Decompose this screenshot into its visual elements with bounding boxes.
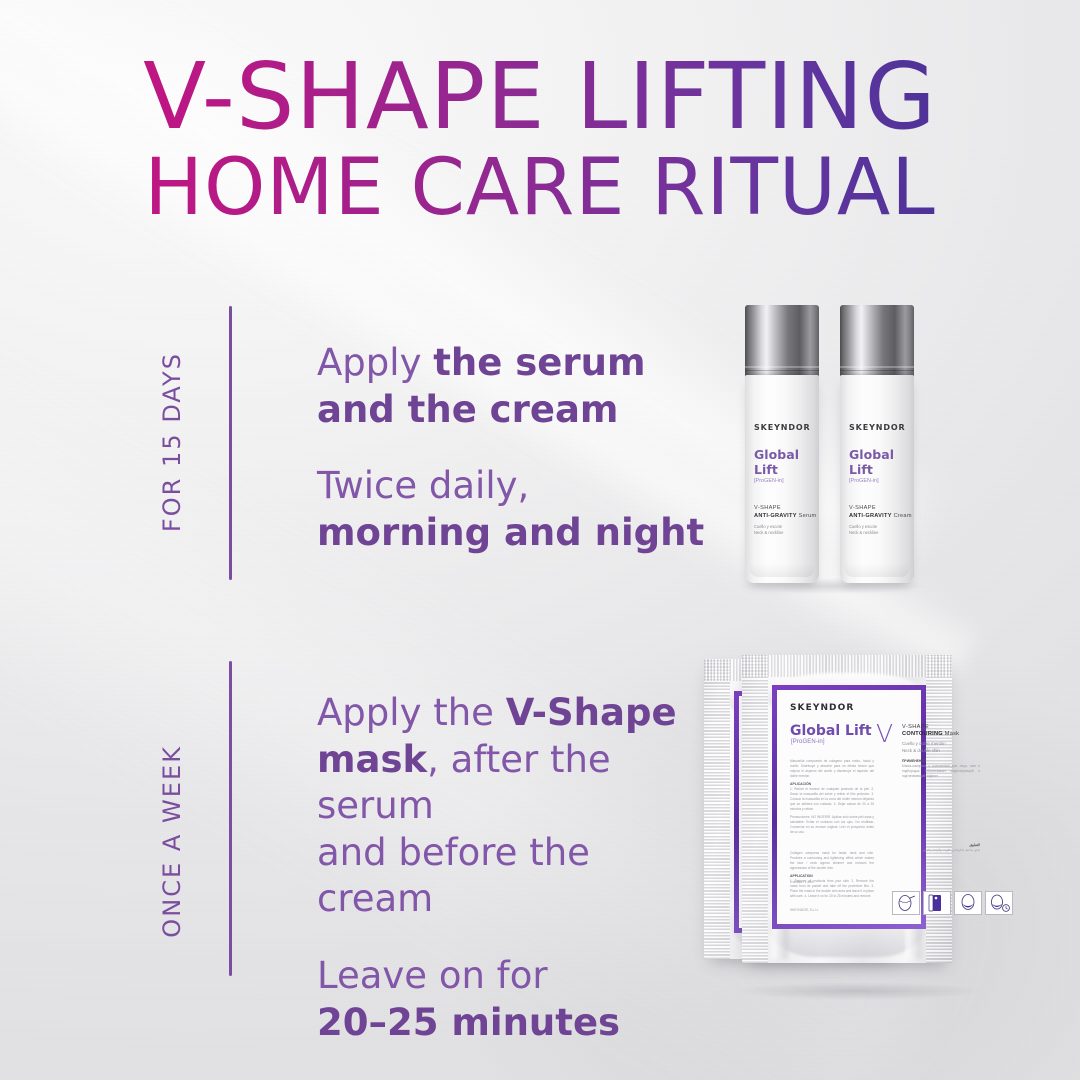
- mask-sachets-group: SKEYNDOR Global Lift [ProGEN-in] V V-SHA…: [690, 645, 1020, 990]
- mask-sachet-back-crimp-left: [704, 659, 730, 959]
- mask-copy-es-body: Mascarilla compuesta de colageno para ro…: [790, 759, 874, 779]
- bottle-serum-variant: V-SHAPE ANTI-GRAVITY Serum Cuello y esco…: [745, 505, 819, 536]
- s2-p1-bold2: mask: [317, 738, 427, 781]
- mask-copy-ar-body: قناع ضاغط بالكولاجين للوجه والرقبة والذق…: [902, 848, 980, 853]
- bottle-cream-variant-bold: ANTI-GRAVITY: [849, 513, 892, 519]
- s2-p1-plain3: and before the cream: [317, 831, 590, 921]
- bottle-cream-label: SKEYNDOR: [840, 423, 914, 432]
- bottle-cream-cap: [840, 305, 914, 377]
- bottle-cream-desc-en: Neck & neckline: [849, 530, 914, 536]
- s1-p1-bold: the serum: [433, 341, 645, 384]
- title-line-2: HOME CARE RITUAL: [0, 150, 1080, 226]
- step-1-paragraph-1: Apply the serumand the cream: [317, 340, 707, 433]
- mask-instruction-icons: [892, 891, 1013, 915]
- s2-p2-plain: Leave on for: [317, 954, 548, 997]
- mask-pack-count: 1 unidad / 1 unit: [790, 880, 860, 885]
- mask-front-panel: SKEYNDOR Global Lift [ProGEN-in] V V-SHA…: [772, 685, 926, 929]
- mask-copy-es: Mascarilla compuesta de colageno para ro…: [790, 759, 874, 835]
- mask-copy-ar: التطبيق قناع ضاغط بالكولاجين للوجه والرق…: [902, 843, 980, 853]
- poster-canvas: V-SHAPE LIFTING HOME CARE RITUAL FOR 15 …: [0, 0, 1080, 1080]
- step-2-copy: Apply the V-Shapemask, after the seruman…: [317, 690, 717, 1046]
- step-2-paragraph-2: Leave on for20–25 minutes: [317, 953, 717, 1046]
- v-shape-mark-icon: V: [876, 723, 893, 745]
- bottle-serum-variant-bold: ANTI-GRAVITY: [754, 513, 797, 519]
- bottle-serum-label: SKEYNDOR: [745, 423, 819, 432]
- apply-mask-icon: [954, 891, 982, 915]
- bottle-serum-variant-rest: Serum: [797, 513, 817, 519]
- mask-desc-es: Cuello y doble mentón: [902, 741, 980, 748]
- face-cleanse-icon: [892, 891, 920, 915]
- s2-p1-bold: V-Shape: [506, 691, 677, 734]
- bottle-cream-body: SKEYNDOR Global Lift [ProGEN-in] V-SHAPE…: [840, 375, 914, 583]
- bottle-serum-desc-en: Neck & neckline: [754, 530, 819, 536]
- bottle-cream-brand: SKEYNDOR: [849, 423, 914, 432]
- mask-variant-bold: CONTOURING: [902, 731, 943, 737]
- mask-range-sub: [ProGEN-in]: [791, 739, 825, 745]
- open-sachet-icon: [923, 891, 951, 915]
- bottle-serum-variant-line1: V-SHAPE: [754, 505, 819, 511]
- bottle-serum-body: SKEYNDOR Global Lift [ProGEN-in] V-SHAPE…: [745, 375, 819, 583]
- step-2-paragraph-1: Apply the V-Shapemask, after the seruman…: [317, 690, 717, 923]
- title-line-1: V-SHAPE LIFTING: [0, 52, 1080, 142]
- mask-sachet-front: SKEYNDOR Global Lift [ProGEN-in] V V-SHA…: [742, 655, 952, 963]
- mask-copy-en: Collagen compress mask for facial, neck …: [790, 851, 874, 899]
- mask-variant-line1: V-SHAPE: [902, 724, 980, 730]
- bottle-cream-variant-rest: Cream: [892, 513, 912, 519]
- mask-front-panel-inner: SKEYNDOR Global Lift [ProGEN-in] V V-SHA…: [780, 693, 918, 921]
- bottle-cream-variant-line1: V-SHAPE: [849, 505, 914, 511]
- mask-copy-es-caution: Precauciones: NO INGERIR. Aplicar solo s…: [790, 815, 874, 835]
- bottle-cream-range: Global Lift [ProGEN-in]: [840, 447, 914, 484]
- bottle-cream-range-sub: [ProGEN-in]: [849, 478, 914, 484]
- mask-range-name: Global Lift: [790, 723, 872, 739]
- poster-title: V-SHAPE LIFTING HOME CARE RITUAL: [0, 52, 1080, 227]
- step-1-side-label: FOR 15 DAYS: [158, 352, 186, 532]
- mask-sachet-front-crimp-left: [742, 655, 768, 963]
- s1-p2-bold: morning and night: [317, 511, 704, 554]
- mask-copy-en-body: Collagen compress mask for facial, neck …: [790, 851, 874, 871]
- bottle-cream-desc: Cuello y escote Neck & neckline: [849, 524, 914, 536]
- bottle-serum-range-name: Global Lift: [754, 447, 819, 477]
- step-2-side-label: ONCE A WEEK: [158, 745, 186, 938]
- mask-brand: SKEYNDOR: [790, 703, 854, 713]
- s1-p2-plain: Twice daily,: [317, 464, 529, 507]
- mask-desc-en: Neck & double chin: [902, 748, 980, 755]
- timer-remove-icon: [985, 891, 1013, 915]
- bottle-serum: SKEYNDOR Global Lift [ProGEN-in] V-SHAPE…: [745, 305, 819, 583]
- mask-address: SKEYNDOR, S.L.U.: [790, 908, 860, 913]
- mask-copy-ru: ПРИМЕНЕНИЕ Маска-компресс с коллагеном д…: [902, 759, 980, 779]
- mask-sachet-front-crimp-right: [926, 655, 952, 963]
- bottle-cream-range-name: Global Lift: [849, 447, 914, 477]
- mask-copy-es-steps: 1. Retirar el envase de cualquier produc…: [790, 787, 874, 812]
- step-1-paragraph-2: Twice daily,morning and night: [317, 463, 707, 556]
- step-1-copy: Apply the serumand the cream Twice daily…: [317, 340, 707, 556]
- bottle-cream-variant-line2: ANTI-GRAVITY Cream: [849, 513, 914, 519]
- s2-p1-plain: Apply the: [317, 691, 506, 734]
- bottle-cream-variant: V-SHAPE ANTI-GRAVITY Cream Cuello y esco…: [840, 505, 914, 536]
- step-1-divider: [229, 306, 232, 580]
- mask-variant-rest: Mask: [943, 731, 959, 737]
- sachets-ground-shadow: [734, 982, 984, 1000]
- bottle-serum-range: Global Lift [ProGEN-in]: [745, 447, 819, 484]
- s1-p1-bold2: and the cream: [317, 388, 618, 431]
- mask-desc: Cuello y doble mentón Neck & double chin: [902, 741, 980, 755]
- bottle-cream: SKEYNDOR Global Lift [ProGEN-in] V-SHAPE…: [840, 305, 914, 583]
- s2-p2-bold: 20–25 minutes: [317, 1001, 620, 1044]
- bottle-serum-range-sub: [ProGEN-in]: [754, 478, 819, 484]
- bottle-serum-brand: SKEYNDOR: [754, 423, 819, 432]
- product-bottles-group: SKEYNDOR Global Lift [ProGEN-in] V-SHAPE…: [700, 290, 1000, 610]
- mask-variant-block: V-SHAPE CONTOURING Mask Cuello y doble m…: [902, 724, 980, 755]
- mask-copy-ru-body: Маска-компресс с коллагеном для лица, ше…: [902, 764, 980, 779]
- mask-variant-line2: CONTOURING Mask: [902, 731, 980, 737]
- bottle-serum-variant-line2: ANTI-GRAVITY Serum: [754, 513, 819, 519]
- bottle-serum-desc: Cuello y escote Neck & neckline: [754, 524, 819, 536]
- s1-p1-plain: Apply: [317, 341, 433, 384]
- bottle-serum-cap: [745, 305, 819, 377]
- step-2-divider: [229, 661, 232, 976]
